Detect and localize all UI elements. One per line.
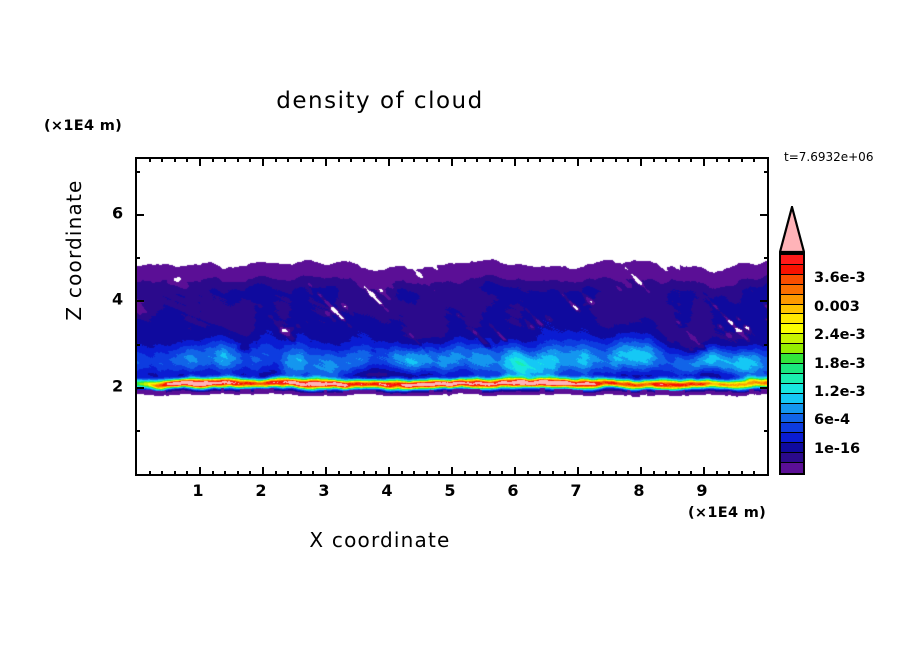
- x-axis-minor-tick: [590, 471, 592, 476]
- x-axis-minor-tick: [476, 471, 478, 476]
- x-axis-minor-tick: [224, 471, 226, 476]
- x-axis-minor-tick: [753, 471, 755, 476]
- x-tick-label: 1: [192, 481, 203, 500]
- colorbar-band: [781, 344, 803, 354]
- x-axis-top-minor-tick: [174, 157, 176, 162]
- x-axis-minor-tick: [312, 471, 314, 476]
- x-axis-minor-tick: [174, 471, 176, 476]
- colorbar-tick-label: 1e-16: [814, 441, 860, 457]
- y-axis-minor-tick: [135, 430, 140, 432]
- x-axis-minor-tick: [716, 471, 718, 476]
- x-axis-top-minor-tick: [489, 157, 491, 162]
- y-axis-title: Z coordinate: [62, 150, 86, 350]
- x-axis-minor-tick: [527, 471, 529, 476]
- x-axis-top-major-tick: [262, 157, 264, 166]
- y-axis-right-major-tick: [760, 387, 769, 389]
- colorbar-band: [781, 354, 803, 364]
- x-axis-top-minor-tick: [476, 157, 478, 162]
- colorbar-band: [781, 364, 803, 374]
- x-axis-minor-tick: [363, 471, 365, 476]
- x-axis-minor-tick: [237, 471, 239, 476]
- colorbar-band: [781, 255, 803, 265]
- colorbar-overflow-arrow-icon: [779, 206, 805, 253]
- x-axis-top-minor-tick: [552, 157, 554, 162]
- figure-root: density of cloud (×1E4 m) t=7.6932e+06 1…: [0, 0, 904, 654]
- x-axis-minor-tick: [438, 471, 440, 476]
- x-axis-top-minor-tick: [401, 157, 403, 162]
- x-axis-top-minor-tick: [338, 157, 340, 162]
- colorbar-band: [781, 404, 803, 414]
- x-axis-major-tick: [703, 467, 705, 476]
- y-axis-major-tick: [135, 387, 144, 389]
- x-axis-top-minor-tick: [665, 157, 667, 162]
- y-axis-right-major-tick: [760, 300, 769, 302]
- x-axis-minor-tick: [401, 471, 403, 476]
- y-axis-unit-label: (×1E4 m): [44, 118, 122, 134]
- y-axis-right-major-tick: [760, 214, 769, 216]
- x-axis-minor-tick: [375, 471, 377, 476]
- y-tick-label: 4: [112, 290, 123, 309]
- colorbar: [779, 206, 805, 476]
- x-axis-top-minor-tick: [426, 157, 428, 162]
- x-axis-top-major-tick: [199, 157, 201, 166]
- x-axis-top-minor-tick: [527, 157, 529, 162]
- colorbar-band: [781, 334, 803, 344]
- x-axis-top-major-tick: [451, 157, 453, 166]
- x-axis-minor-tick: [338, 471, 340, 476]
- x-axis-minor-tick: [275, 471, 277, 476]
- y-tick-label: 2: [112, 376, 123, 395]
- x-axis-top-minor-tick: [627, 157, 629, 162]
- y-axis-right-minor-tick: [764, 257, 769, 259]
- x-axis-top-minor-tick: [275, 157, 277, 162]
- x-axis-minor-tick: [464, 471, 466, 476]
- colorbar-tick-label: 2.4e-3: [814, 327, 866, 343]
- colorbar-band: [781, 414, 803, 424]
- y-axis-right-minor-tick: [764, 171, 769, 173]
- x-axis-top-minor-tick: [539, 157, 541, 162]
- x-axis-top-minor-tick: [728, 157, 730, 162]
- x-axis-minor-tick: [287, 471, 289, 476]
- x-axis-top-minor-tick: [212, 157, 214, 162]
- x-axis-major-tick: [514, 467, 516, 476]
- x-tick-label: 4: [381, 481, 392, 500]
- y-axis-major-tick: [135, 300, 144, 302]
- colorbar-tick-label: 6e-4: [814, 412, 850, 428]
- colorbar-gradient: [779, 253, 805, 475]
- colorbar-band: [781, 463, 803, 473]
- x-axis-minor-tick: [728, 471, 730, 476]
- y-axis-minor-tick: [135, 344, 140, 346]
- x-axis-major-tick: [325, 467, 327, 476]
- x-axis-major-tick: [388, 467, 390, 476]
- x-axis-top-minor-tick: [564, 157, 566, 162]
- x-axis-top-minor-tick: [312, 157, 314, 162]
- colorbar-band: [781, 305, 803, 315]
- x-axis-top-minor-tick: [590, 157, 592, 162]
- x-axis-minor-tick: [186, 471, 188, 476]
- x-axis-minor-tick: [627, 471, 629, 476]
- x-axis-minor-tick: [300, 471, 302, 476]
- x-tick-label: 8: [633, 481, 644, 500]
- colorbar-band: [781, 265, 803, 275]
- colorbar-band: [781, 275, 803, 285]
- x-axis-minor-tick: [426, 471, 428, 476]
- x-axis-minor-tick: [615, 471, 617, 476]
- x-axis-minor-tick: [161, 471, 163, 476]
- x-tick-label: 9: [696, 481, 707, 500]
- x-axis-top-minor-tick: [753, 157, 755, 162]
- x-axis-top-minor-tick: [287, 157, 289, 162]
- colorbar-band: [781, 314, 803, 324]
- x-axis-top-major-tick: [514, 157, 516, 166]
- x-axis-top-minor-tick: [363, 157, 365, 162]
- x-axis-minor-tick: [741, 471, 743, 476]
- y-axis-right-minor-tick: [764, 344, 769, 346]
- x-axis-top-minor-tick: [741, 157, 743, 162]
- x-axis-minor-tick: [149, 471, 151, 476]
- x-axis-top-major-tick: [577, 157, 579, 166]
- colorbar-band: [781, 423, 803, 433]
- x-axis-major-tick: [640, 467, 642, 476]
- colorbar-tick-label: 1.8e-3: [814, 356, 866, 372]
- x-axis-major-tick: [262, 467, 264, 476]
- contour-plot-canvas: [137, 159, 767, 474]
- y-axis-major-tick: [135, 214, 144, 216]
- x-axis-title: X coordinate: [0, 528, 760, 552]
- x-axis-minor-tick: [489, 471, 491, 476]
- x-axis-minor-tick: [564, 471, 566, 476]
- colorbar-tick-label: 1.2e-3: [814, 384, 866, 400]
- x-axis-top-minor-tick: [501, 157, 503, 162]
- x-tick-label: 6: [507, 481, 518, 500]
- x-axis-top-major-tick: [388, 157, 390, 166]
- x-axis-top-minor-tick: [350, 157, 352, 162]
- x-axis-minor-tick: [413, 471, 415, 476]
- y-tick-label: 6: [112, 204, 123, 223]
- x-axis-top-minor-tick: [413, 157, 415, 162]
- y-axis-right-minor-tick: [764, 430, 769, 432]
- y-axis-minor-tick: [135, 257, 140, 259]
- x-axis-top-minor-tick: [149, 157, 151, 162]
- y-axis-minor-tick: [135, 171, 140, 173]
- time-annotation: t=7.6932e+06: [784, 150, 873, 164]
- x-axis-unit-label: (×1E4 m): [688, 505, 766, 521]
- x-axis-top-minor-tick: [237, 157, 239, 162]
- x-axis-top-minor-tick: [186, 157, 188, 162]
- colorbar-band: [781, 394, 803, 404]
- x-axis-major-tick: [577, 467, 579, 476]
- x-axis-top-minor-tick: [602, 157, 604, 162]
- x-axis-minor-tick: [665, 471, 667, 476]
- colorbar-tick-label: 3.6e-3: [814, 270, 866, 286]
- x-axis-minor-tick: [602, 471, 604, 476]
- x-axis-minor-tick: [690, 471, 692, 476]
- x-axis-top-minor-tick: [464, 157, 466, 162]
- x-axis-top-major-tick: [640, 157, 642, 166]
- x-tick-label: 7: [570, 481, 581, 500]
- colorbar-band: [781, 384, 803, 394]
- x-axis-top-minor-tick: [249, 157, 251, 162]
- x-axis-minor-tick: [249, 471, 251, 476]
- x-axis-minor-tick: [552, 471, 554, 476]
- colorbar-band: [781, 433, 803, 443]
- x-axis-major-tick: [199, 467, 201, 476]
- x-axis-top-minor-tick: [615, 157, 617, 162]
- x-axis-minor-tick: [678, 471, 680, 476]
- colorbar-band: [781, 453, 803, 463]
- x-axis-minor-tick: [212, 471, 214, 476]
- x-axis-top-minor-tick: [300, 157, 302, 162]
- x-axis-top-minor-tick: [716, 157, 718, 162]
- plot-frame: [135, 157, 769, 476]
- page-title: density of cloud: [0, 88, 760, 114]
- colorbar-band: [781, 374, 803, 384]
- x-axis-minor-tick: [539, 471, 541, 476]
- colorbar-tick-label: 0.003: [814, 299, 860, 315]
- x-axis-top-minor-tick: [224, 157, 226, 162]
- x-axis-top-minor-tick: [678, 157, 680, 162]
- x-axis-minor-tick: [653, 471, 655, 476]
- x-tick-label: 2: [255, 481, 266, 500]
- x-axis-top-minor-tick: [690, 157, 692, 162]
- x-axis-top-minor-tick: [161, 157, 163, 162]
- x-axis-top-major-tick: [703, 157, 705, 166]
- colorbar-band: [781, 443, 803, 453]
- colorbar-band: [781, 285, 803, 295]
- x-axis-major-tick: [451, 467, 453, 476]
- x-tick-label: 5: [444, 481, 455, 500]
- colorbar-band: [781, 324, 803, 334]
- x-axis-top-minor-tick: [438, 157, 440, 162]
- x-axis-top-minor-tick: [653, 157, 655, 162]
- x-axis-minor-tick: [350, 471, 352, 476]
- x-tick-label: 3: [318, 481, 329, 500]
- colorbar-band: [781, 295, 803, 305]
- x-axis-top-major-tick: [325, 157, 327, 166]
- x-axis-top-minor-tick: [375, 157, 377, 162]
- x-axis-minor-tick: [501, 471, 503, 476]
